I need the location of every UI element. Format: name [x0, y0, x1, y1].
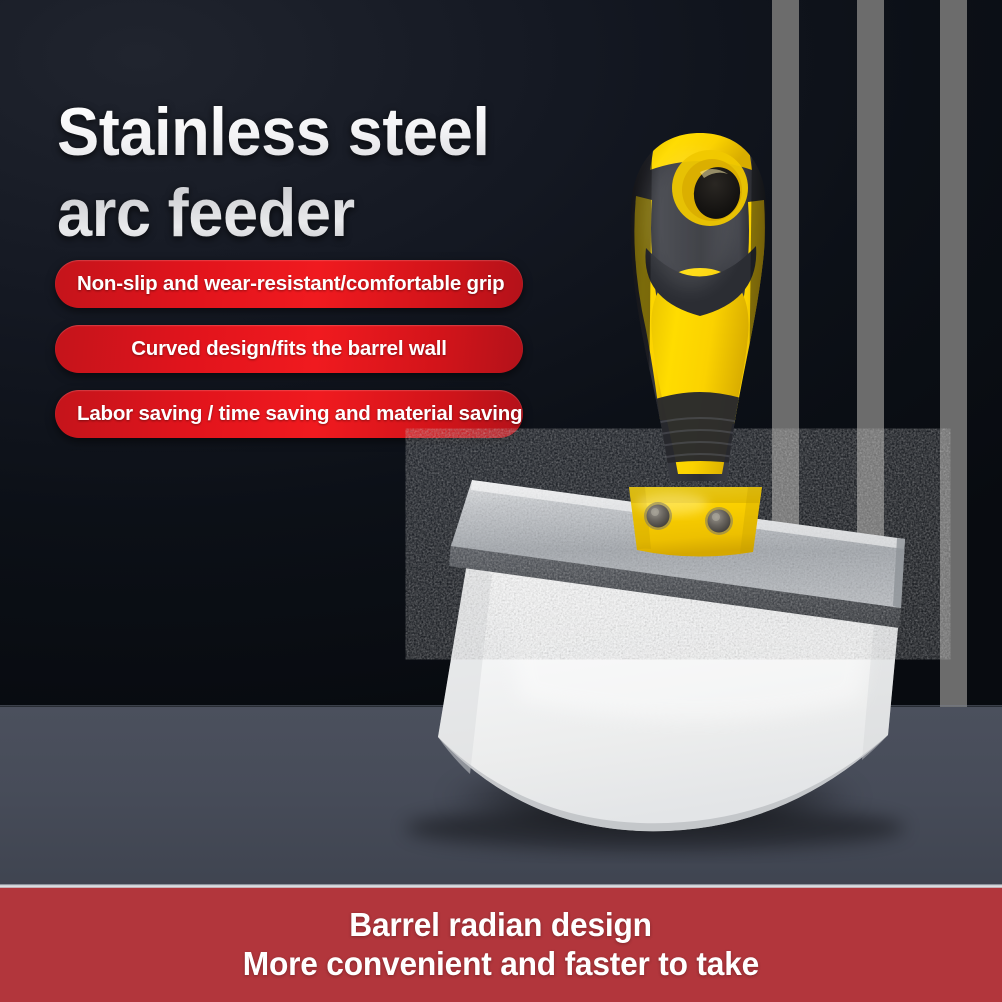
ferrule-group [629, 487, 762, 557]
banner-line-2: More convenient and faster to take [243, 945, 759, 984]
scraper-illustration [0, 0, 1002, 902]
handle-group [625, 132, 775, 486]
ferrule-rivet-right [705, 507, 733, 535]
product-image [0, 0, 1002, 902]
handle-right-edge-shade [748, 150, 775, 486]
ferrule-rivet-left [644, 502, 672, 530]
handle-hanging-hole [672, 150, 748, 226]
product-poster: Stainless steel arc feeder Non-slip and … [0, 0, 1002, 1002]
bottom-banner: Barrel radian design More convenient and… [0, 888, 1002, 1002]
banner-line-1: Barrel radian design [350, 906, 653, 945]
